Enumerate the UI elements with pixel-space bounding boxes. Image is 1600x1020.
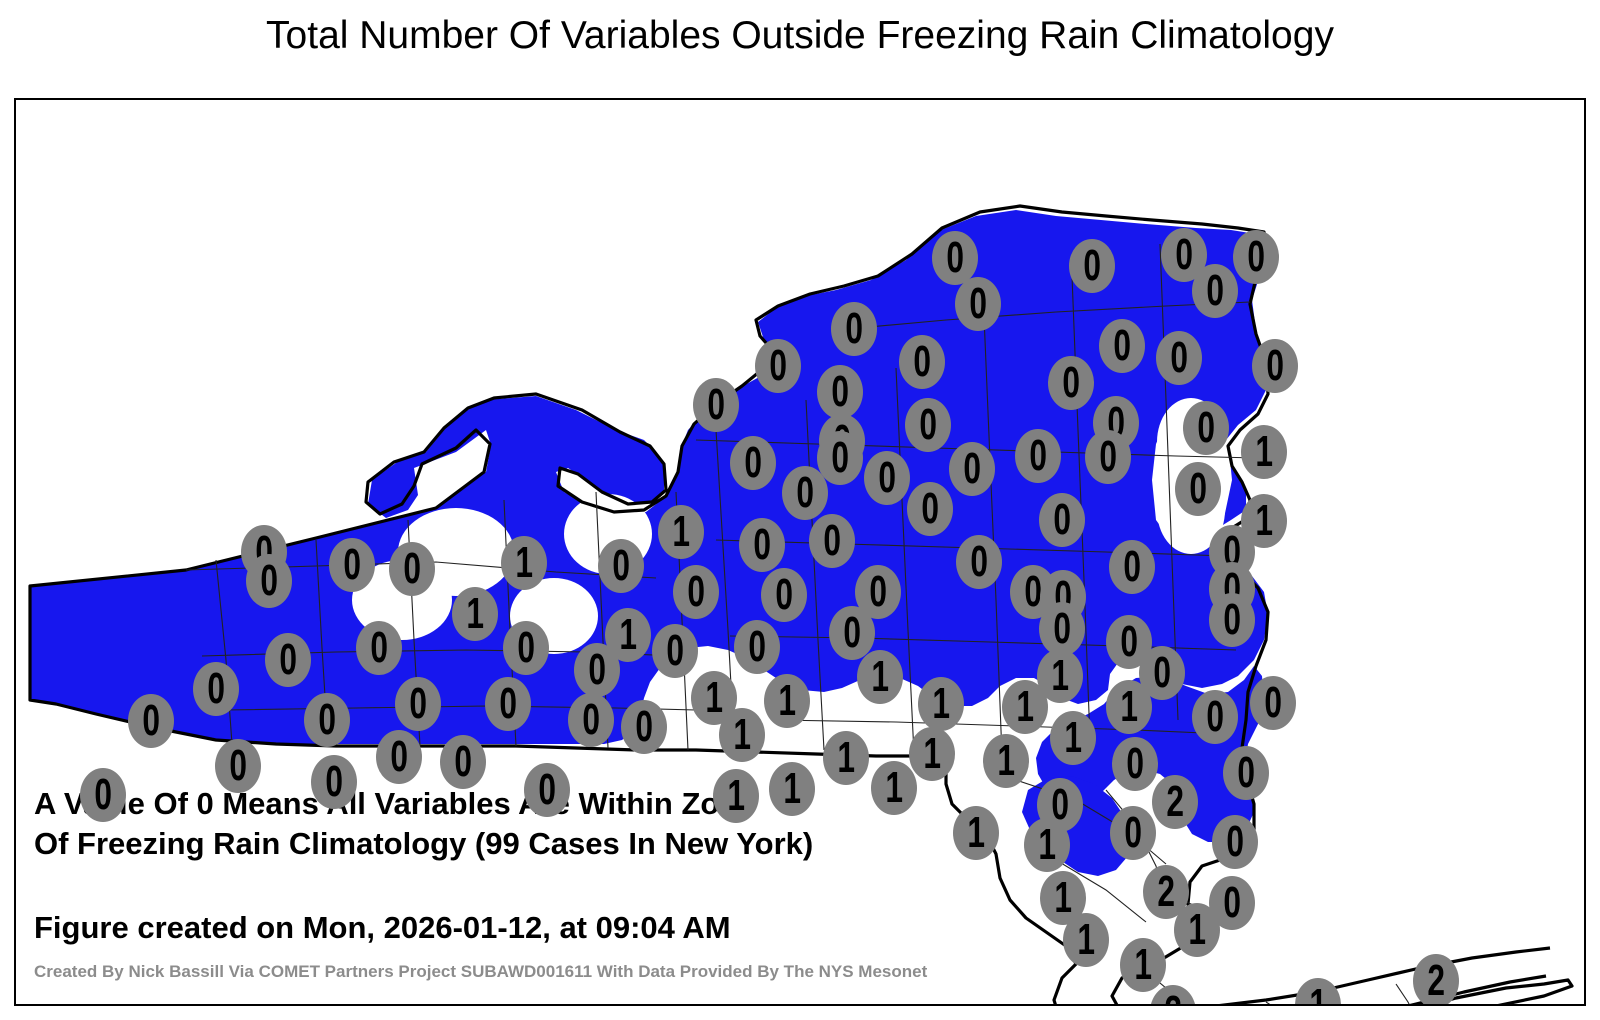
station-value-label: 1 — [967, 811, 985, 855]
station-value-label: 0 — [207, 667, 225, 711]
station-marker-dot: 0 — [265, 633, 311, 687]
station-marker: 1 — [871, 761, 917, 815]
figure-created-timestamp: Figure created on Mon, 2026-01-12, at 09… — [34, 910, 731, 946]
station-value-label: 2 — [1427, 959, 1445, 1003]
station-marker-dot: 0 — [1109, 540, 1155, 594]
station-value-label: 0 — [1029, 434, 1047, 478]
station-marker-dot: 0 — [1110, 806, 1156, 860]
station-value-label: 0 — [1264, 681, 1282, 725]
station-value-label: 0 — [1126, 742, 1144, 786]
station-marker-dot: 0 — [1175, 462, 1221, 516]
station-marker-dot: 1 — [857, 650, 903, 704]
station-marker: 2 — [1150, 985, 1196, 1006]
station-value-label: 2 — [1164, 990, 1182, 1006]
station-marker: 0 — [730, 436, 776, 490]
station-value-label: 1 — [1134, 943, 1152, 987]
station-marker: 0 — [356, 621, 402, 675]
station-value-label: 1 — [778, 679, 796, 723]
station-value-label: 0 — [1170, 336, 1188, 380]
station-marker: 1 — [823, 731, 869, 785]
station-value-label: 0 — [229, 744, 247, 788]
station-marker: 0 — [831, 302, 877, 356]
station-marker-dot: 0 — [1252, 339, 1298, 393]
station-marker-dot: 1 — [764, 674, 810, 728]
station-marker-dot: 1 — [1120, 938, 1166, 992]
station-marker: 1 — [1241, 425, 1287, 479]
station-value-label: 0 — [279, 638, 297, 682]
station-marker: 2 — [1152, 775, 1198, 829]
figure-root: Total Number Of Variables Outside Freezi… — [0, 0, 1600, 1020]
station-value-label: 1 — [783, 767, 801, 811]
station-marker-dot: 0 — [831, 302, 877, 356]
station-marker-dot: 0 — [673, 565, 719, 619]
station-marker-dot: 1 — [1024, 818, 1070, 872]
station-marker-dot: 1 — [658, 505, 704, 559]
station-value-label: 0 — [582, 698, 600, 742]
station-value-label: 0 — [499, 682, 517, 726]
station-value-label: 0 — [403, 547, 421, 591]
station-value-label: 0 — [588, 648, 606, 692]
station-value-label: 1 — [672, 510, 690, 554]
station-marker: 0 — [304, 693, 350, 747]
station-value-label: 2 — [1166, 780, 1184, 824]
station-marker: 1 — [713, 769, 759, 823]
station-marker: 0 — [389, 542, 435, 596]
station-marker-dot: 0 — [80, 768, 126, 822]
station-marker: 0 — [782, 466, 828, 520]
station-value-label: 0 — [946, 236, 964, 280]
station-value-label: 0 — [1153, 651, 1171, 695]
station-marker-dot: 2 — [1413, 954, 1459, 1006]
station-marker-dot: 0 — [755, 339, 801, 393]
station-marker-dot: 0 — [621, 700, 667, 754]
note-line-1: A Value Of 0 Means All Variables Are Wit… — [34, 786, 756, 821]
station-value-label: 1 — [1255, 499, 1273, 543]
station-marker: 0 — [1252, 339, 1298, 393]
station-marker-dot: 1 — [983, 734, 1029, 788]
station-marker: 0 — [1156, 331, 1202, 385]
station-marker-dot: 0 — [376, 730, 422, 784]
station-marker: 1 — [1063, 913, 1109, 967]
station-value-label: 0 — [921, 487, 939, 531]
station-marker: 1 — [719, 708, 765, 762]
station-value-label: 0 — [878, 456, 896, 500]
station-marker: 1 — [769, 762, 815, 816]
station-value-label: 0 — [919, 403, 937, 447]
station-value-label: 0 — [843, 611, 861, 655]
station-value-label: 2 — [1157, 870, 1175, 914]
station-value-label: 1 — [923, 732, 941, 776]
station-value-label: 0 — [370, 626, 388, 670]
station-marker-dot: 0 — [955, 277, 1001, 331]
station-value-label: 0 — [1206, 269, 1224, 313]
station-value-label: 0 — [823, 519, 841, 563]
station-marker: 0 — [503, 621, 549, 675]
station-marker-dot: 0 — [1048, 356, 1094, 410]
station-marker: 0 — [311, 755, 357, 809]
station-marker: 0 — [1223, 746, 1269, 800]
station-marker: 1 — [1024, 818, 1070, 872]
station-value-label: 0 — [1175, 233, 1193, 277]
station-value-label: 0 — [707, 383, 725, 427]
station-marker: 0 — [440, 735, 486, 789]
station-value-label: 0 — [1223, 881, 1241, 925]
station-value-label: 1 — [515, 541, 533, 585]
station-marker-dot: 0 — [311, 755, 357, 809]
station-marker: 1 — [658, 505, 704, 559]
station-marker-dot: 0 — [1099, 319, 1145, 373]
station-value-label: 0 — [1123, 545, 1141, 589]
station-value-label: 0 — [94, 773, 112, 817]
station-value-label: 0 — [260, 559, 278, 603]
station-marker-dot: 0 — [524, 763, 570, 817]
station-marker-dot: 0 — [907, 482, 953, 536]
station-marker: 0 — [568, 693, 614, 747]
station-value-label: 0 — [343, 543, 361, 587]
station-marker-dot: 0 — [652, 624, 698, 678]
station-value-label: 1 — [733, 713, 751, 757]
station-marker: 0 — [1233, 230, 1279, 284]
station-marker-dot: 0 — [899, 335, 945, 389]
station-marker-dot: 0 — [246, 554, 292, 608]
station-marker-dot: 2 — [1152, 775, 1198, 829]
station-value-label: 0 — [1226, 820, 1244, 864]
station-value-label: 0 — [970, 540, 988, 584]
station-value-label: 0 — [409, 682, 427, 726]
station-value-label: 0 — [142, 699, 160, 743]
station-marker-dot: 1 — [1174, 903, 1220, 957]
station-marker: 1 — [452, 587, 498, 641]
station-marker-dot: 0 — [1156, 331, 1202, 385]
station-marker-dot: 0 — [693, 378, 739, 432]
station-value-label: 0 — [1223, 598, 1241, 642]
station-marker: 0 — [1192, 264, 1238, 318]
station-value-label: 0 — [1083, 244, 1101, 288]
station-marker-dot: 0 — [329, 538, 375, 592]
station-value-label: 0 — [612, 544, 630, 588]
station-value-label: 1 — [1309, 983, 1327, 1006]
station-marker-dot: 0 — [568, 693, 614, 747]
station-marker-dot: 1 — [769, 762, 815, 816]
station-marker-dot: 0 — [389, 542, 435, 596]
station-marker: 0 — [1085, 430, 1131, 484]
station-marker: 0 — [80, 768, 126, 822]
station-value-label: 0 — [390, 735, 408, 779]
station-marker: 0 — [809, 514, 855, 568]
station-marker-dot: 0 — [782, 466, 828, 520]
station-marker: 0 — [485, 677, 531, 731]
station-value-label: 0 — [963, 447, 981, 491]
station-value-label: 0 — [454, 740, 472, 784]
station-marker: 0 — [761, 568, 807, 622]
station-marker: 0 — [755, 339, 801, 393]
station-value-label: 1 — [837, 736, 855, 780]
station-marker: 0 — [1015, 429, 1061, 483]
station-marker-dot: 1 — [953, 806, 999, 860]
page-title: Total Number Of Variables Outside Freezi… — [0, 14, 1600, 58]
station-value-label: 0 — [831, 436, 849, 480]
station-value-label: 0 — [1053, 498, 1071, 542]
station-value-label: 0 — [635, 705, 653, 749]
station-marker: 0 — [739, 518, 785, 572]
station-marker: 0 — [1039, 493, 1085, 547]
station-value-label: 0 — [1266, 344, 1284, 388]
station-marker: 1 — [918, 677, 964, 731]
station-marker: 0 — [574, 643, 620, 697]
station-value-label: 0 — [748, 625, 766, 669]
station-marker: 0 — [1099, 319, 1145, 373]
station-marker: 0 — [621, 700, 667, 754]
station-marker-dot: 0 — [905, 398, 951, 452]
station-marker: 0 — [1048, 356, 1094, 410]
station-marker: 0 — [1192, 690, 1238, 744]
station-marker-dot: 0 — [193, 662, 239, 716]
station-value-label: 0 — [796, 471, 814, 515]
station-marker: 1 — [857, 650, 903, 704]
station-marker: 0 — [1069, 239, 1115, 293]
station-value-label: 1 — [1051, 654, 1069, 698]
station-marker: 0 — [1039, 602, 1085, 656]
station-value-label: 1 — [1255, 430, 1273, 474]
station-marker: 0 — [899, 335, 945, 389]
station-value-label: 1 — [1120, 685, 1138, 729]
station-marker: 0 — [693, 378, 739, 432]
station-value-label: 1 — [727, 774, 745, 818]
station-marker-dot: 0 — [440, 735, 486, 789]
station-value-label: 1 — [871, 655, 889, 699]
station-marker-dot: 1 — [1106, 680, 1152, 734]
station-marker-dot: 0 — [864, 451, 910, 505]
station-marker: 0 — [265, 633, 311, 687]
station-marker: 1 — [1174, 903, 1220, 957]
station-value-label: 1 — [619, 613, 637, 657]
station-marker: 1 — [1120, 938, 1166, 992]
station-value-label: 0 — [753, 523, 771, 567]
station-value-label: 1 — [997, 739, 1015, 783]
station-marker-dot: 1 — [1241, 425, 1287, 479]
station-marker: 0 — [955, 277, 1001, 331]
station-value-label: 1 — [1188, 908, 1206, 952]
station-marker-dot: 0 — [761, 568, 807, 622]
station-value-label: 0 — [769, 344, 787, 388]
station-marker-dot: 0 — [485, 677, 531, 731]
station-marker-dot: 1 — [823, 731, 869, 785]
station-marker-dot: 1 — [501, 536, 547, 590]
station-marker: 1 — [1295, 978, 1341, 1006]
station-marker-dot: 2 — [1150, 985, 1196, 1006]
station-value-label: 1 — [1064, 716, 1082, 760]
station-marker: 0 — [817, 365, 863, 419]
station-marker-dot: 0 — [817, 365, 863, 419]
station-marker-dot: 0 — [956, 535, 1002, 589]
station-marker: 0 — [524, 763, 570, 817]
station-marker-dot: 0 — [1039, 602, 1085, 656]
station-value-label: 0 — [1062, 361, 1080, 405]
station-marker: 2 — [1413, 954, 1459, 1006]
station-value-label: 0 — [845, 307, 863, 351]
station-value-label: 0 — [1053, 607, 1071, 651]
station-value-label: 0 — [687, 570, 705, 614]
station-marker: 0 — [215, 739, 261, 793]
station-value-label: 0 — [517, 626, 535, 670]
station-value-label: 0 — [969, 282, 987, 326]
station-marker: 0 — [193, 662, 239, 716]
station-marker: 1 — [1002, 680, 1048, 734]
station-marker: 0 — [956, 535, 1002, 589]
station-marker: 0 — [949, 442, 995, 496]
station-value-label: 1 — [1077, 918, 1095, 962]
station-marker-dot: 0 — [215, 739, 261, 793]
station-marker: 0 — [1250, 676, 1296, 730]
station-marker-dot: 3 — [1136, 1005, 1182, 1006]
station-marker: 1 — [1050, 711, 1096, 765]
station-marker-dot: 0 — [730, 436, 776, 490]
station-marker-dot: 0 — [128, 694, 174, 748]
station-marker: 0 — [673, 565, 719, 619]
station-value-label: 0 — [913, 340, 931, 384]
station-value-label: 0 — [1206, 695, 1224, 739]
station-value-label: 0 — [775, 573, 793, 617]
station-marker: 0 — [1175, 462, 1221, 516]
station-value-label: 0 — [318, 698, 336, 742]
station-marker-dot: 0 — [734, 620, 780, 674]
station-marker-dot: 0 — [1250, 676, 1296, 730]
station-value-label: 0 — [1189, 467, 1207, 511]
station-marker-dot: 0 — [574, 643, 620, 697]
station-marker: 0 — [905, 398, 951, 452]
station-value-label: 1 — [466, 592, 484, 636]
station-marker-dot: 0 — [949, 442, 995, 496]
station-marker: 0 — [907, 482, 953, 536]
station-marker: 3 — [1136, 1005, 1182, 1006]
station-marker: 0 — [128, 694, 174, 748]
station-marker-dot: 1 — [1063, 913, 1109, 967]
station-marker-dot: 1 — [871, 761, 917, 815]
station-marker-dot: 0 — [395, 677, 441, 731]
station-marker: 1 — [983, 734, 1029, 788]
station-marker-dot: 1 — [918, 677, 964, 731]
station-marker: 1 — [1106, 680, 1152, 734]
station-marker-dot: 0 — [1085, 430, 1131, 484]
figure-credit-line: Created By Nick Bassill Via COMET Partne… — [34, 962, 927, 982]
station-marker-dot: 1 — [452, 587, 498, 641]
station-marker-dot: 0 — [739, 518, 785, 572]
station-value-label: 0 — [1247, 235, 1265, 279]
station-marker: 1 — [501, 536, 547, 590]
station-marker: 0 — [329, 538, 375, 592]
station-marker: 0 — [1209, 593, 1255, 647]
station-marker: 1 — [764, 674, 810, 728]
station-marker: 0 — [652, 624, 698, 678]
station-marker: 0 — [395, 677, 441, 731]
station-marker-dot: 0 — [809, 514, 855, 568]
station-value-label: 1 — [1038, 823, 1056, 867]
station-marker-dot: 0 — [304, 693, 350, 747]
station-marker: 0 — [734, 620, 780, 674]
station-value-label: 0 — [1124, 811, 1142, 855]
station-marker: 0 — [1183, 401, 1229, 455]
station-value-label: 0 — [1099, 435, 1117, 479]
station-value-label: 0 — [1237, 751, 1255, 795]
station-marker: 0 — [376, 730, 422, 784]
station-value-label: 1 — [885, 766, 903, 810]
station-marker-dot: 0 — [1209, 593, 1255, 647]
map-panel: A Value Of 0 Means All Variables Are Wit… — [14, 98, 1586, 1006]
station-value-label: 0 — [1197, 406, 1215, 450]
station-marker: 0 — [1110, 806, 1156, 860]
station-value-label: 0 — [538, 768, 556, 812]
station-marker-dot: 0 — [598, 539, 644, 593]
station-marker-dot: 0 — [1223, 746, 1269, 800]
station-value-label: 0 — [1113, 324, 1131, 368]
station-marker-dot: 0 — [1039, 493, 1085, 547]
station-value-label: 0 — [744, 441, 762, 485]
station-marker-dot: 0 — [1069, 239, 1115, 293]
station-marker: 0 — [598, 539, 644, 593]
station-marker-dot: 1 — [713, 769, 759, 823]
station-marker: 0 — [1212, 815, 1258, 869]
station-marker-dot: 0 — [1015, 429, 1061, 483]
station-marker-dot: 1 — [719, 708, 765, 762]
station-marker: 0 — [864, 451, 910, 505]
station-marker-dot: 1 — [1050, 711, 1096, 765]
station-value-label: 0 — [666, 629, 684, 673]
station-marker: 0 — [1109, 540, 1155, 594]
station-value-label: 1 — [1016, 685, 1034, 729]
station-value-label: 0 — [325, 760, 343, 804]
station-value-label: 0 — [1120, 620, 1138, 664]
note-line-2: Of Freezing Rain Climatology (99 Cases I… — [34, 826, 813, 861]
station-marker-dot: 1 — [1295, 978, 1341, 1006]
station-marker-dot: 0 — [1183, 401, 1229, 455]
station-marker-dot: 0 — [1192, 264, 1238, 318]
station-value-label: 1 — [932, 682, 950, 726]
station-marker-dot: 0 — [1192, 690, 1238, 744]
station-marker: 1 — [953, 806, 999, 860]
value-explanation-note: A Value Of 0 Means All Variables Are Wit… — [34, 784, 813, 864]
station-value-label: 0 — [831, 370, 849, 414]
station-marker: 0 — [246, 554, 292, 608]
station-marker-dot: 0 — [356, 621, 402, 675]
station-marker-dot: 0 — [503, 621, 549, 675]
station-marker-dot: 0 — [1233, 230, 1279, 284]
station-marker-dot: 0 — [1212, 815, 1258, 869]
station-marker-dot: 1 — [1002, 680, 1048, 734]
